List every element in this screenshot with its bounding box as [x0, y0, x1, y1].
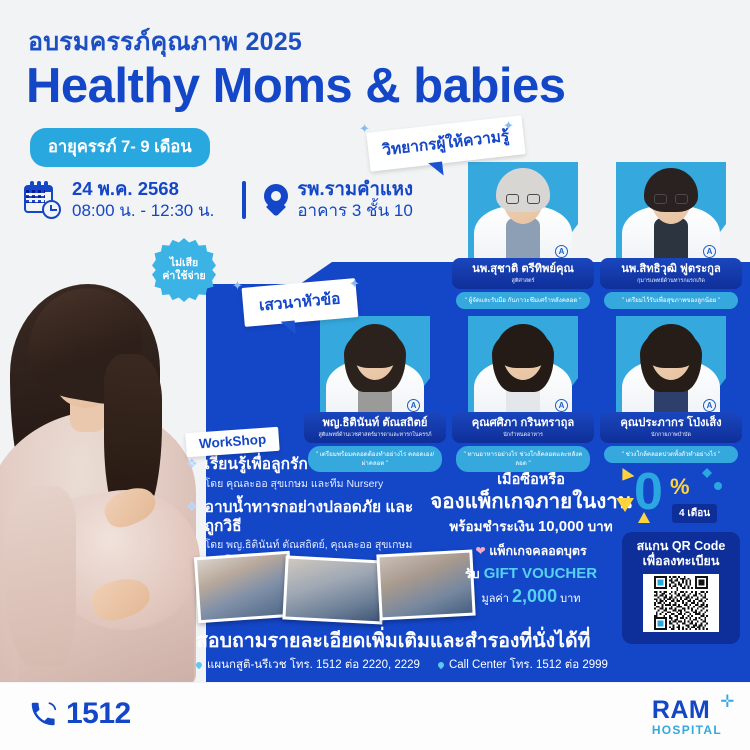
promo-voucher-line: รับ GIFT VOUCHER	[424, 564, 638, 584]
speaker-nameplate: พญ.ธิตินันท์ ตัณสถิตย์ สูติแพทย์ด้านเวชศ…	[304, 412, 446, 443]
diamond-bullet-icon: ❖	[186, 456, 198, 492]
promo-payment-line: พร้อมชำระเงิน 10,000 บาท	[424, 517, 638, 537]
zero-percent-badge: 0 % 4 เดือน	[616, 468, 726, 534]
speaker-name: พญ.ธิตินันท์ ตัณสถิตย์	[308, 417, 442, 430]
vertical-divider	[242, 181, 246, 219]
footer-bar: 1512 RAM ✛ HOSPITAL	[0, 683, 750, 750]
free-badge-line2: ค่าใช้จ่าย	[162, 270, 205, 283]
speaker-photo: A	[304, 312, 446, 416]
speaker-card-4[interactable]: A คุณศศิภา กรินทราถุล นักกำหนดอาหาร " ทา…	[452, 312, 594, 472]
calendar-clock-icon	[22, 180, 62, 220]
promo-package-text: แพ็กเกจคลอดบุตร	[489, 544, 586, 558]
speaker-photo: A	[452, 158, 594, 262]
hospital-logo-icon: A	[555, 399, 568, 412]
promotion-block: เมื่อซื้อหรือ จองแพ็กเกจภายในงาน พร้อมชำ…	[424, 472, 638, 607]
contact-items: แผนกสูติ-นรีเวช โทร. 1512 ต่อ 2220, 2229…	[196, 656, 750, 674]
event-date-block: 24 พ.ค. 2568 08:00 น. - 12:30 น.	[72, 178, 214, 221]
speaker-card-2[interactable]: A นพ.สิทธิวุฒิ ฟูตระกูล กุมารแพทย์ด้านทา…	[600, 158, 742, 309]
glasses-icon	[654, 194, 688, 204]
speaker-quote: " ช่วงใกล้คลอดปวดทั้งตัวทำอย่างไร "	[604, 446, 738, 463]
promo-payment-prefix: พร้อมชำระเงิน	[449, 519, 534, 534]
footer-phone-number: 1512	[66, 697, 131, 731]
speaker-role: นักกายภาพบำบัด	[604, 431, 738, 439]
sparkle-icon: ✦	[359, 121, 370, 137]
event-time: 08:00 น. - 12:30 น.	[72, 201, 214, 222]
event-info-row: 24 พ.ค. 2568 08:00 น. - 12:30 น. รพ.รามค…	[22, 178, 413, 221]
hospital-logo-icon: A	[703, 399, 716, 412]
speaker-nameplate: นพ.สิทธิวุฒิ ฟูตระกูล กุมารแพทย์ด้านทารก…	[600, 258, 742, 289]
heart-icon: ❤	[475, 544, 485, 558]
qr-code-icon[interactable]	[643, 574, 719, 632]
speaker-quote: " เตรียมไว้รับเพื่อสุขภาพของลูกน้อย "	[604, 292, 738, 309]
speaker-role: สูติแพทย์ด้านเวชศาสตร์มารดาและทารกในครรภ…	[308, 431, 442, 439]
promo-voucher-prefix: รับ	[465, 567, 480, 581]
header-subtitle: อบรมครรภ์คุณภาพ 2025	[28, 22, 302, 62]
event-photo-2	[282, 555, 385, 624]
confetti-icon	[702, 468, 712, 478]
promo-package-line: ❤ แพ็กเกจคลอดบุตร	[424, 541, 638, 561]
event-venue-block: รพ.รามคำแหง อาคาร 3 ชั้น 10	[297, 178, 413, 221]
phone-ring-icon	[28, 699, 58, 729]
hospital-logo-icon: A	[703, 245, 716, 258]
speaker-name: คุณประภากร โป่งเส็ง	[604, 417, 738, 430]
promo-line-1: เมื่อซื้อหรือ	[424, 472, 638, 489]
poster-root: อบรมครรภ์คุณภาพ 2025 Healthy Moms & babi…	[0, 0, 750, 750]
promo-payment-amount: 10,000	[538, 518, 584, 535]
speaker-name: นพ.สิทธิวุฒิ ฟูตระกูล	[604, 263, 738, 276]
speaker-card-5[interactable]: A คุณประภากร โป่งเส็ง นักกายภาพบำบัด " ช…	[600, 312, 742, 463]
speaker-nameplate: คุณประภากร โป่งเส็ง นักกายภาพบำบัด	[600, 412, 742, 443]
speaker-photo: A	[600, 158, 742, 262]
speaker-photo: A	[452, 312, 594, 416]
contact-item-text: แผนกสูติ-นรีเวช โทร. 1512 ต่อ 2220, 2229	[207, 656, 420, 674]
medical-cross-icon: ✛	[720, 694, 735, 710]
speaker-quote: " ทานอาหารอย่างไร ช่วงใกล้คลอดและหลังคลอ…	[456, 446, 590, 473]
speaker-quote: " เตรียมพร้อมคลอดต้องทำอย่างไร คลอดเอง/ผ…	[308, 446, 442, 473]
brand-subtitle: HOSPITAL	[652, 723, 722, 737]
qr-code-svg	[645, 576, 717, 630]
ram-hospital-logo: RAM ✛ HOSPITAL	[652, 699, 722, 737]
speaker-nameplate: คุณศศิภา กรินทราถุล นักกำหนดอาหาร	[452, 412, 594, 443]
speaker-name: คุณศศิภา กรินทราถุล	[456, 417, 590, 430]
promo-value-prefix: มูลค่า	[481, 593, 509, 605]
contact-item[interactable]: Call Center โทร. 1512 ต่อ 2999	[438, 656, 608, 674]
installment-months: 4 เดือน	[672, 504, 717, 523]
speaker-quote: " ผู้จัดและรับมือ กับภาวะซึมเศร้าหลังคลอ…	[456, 292, 590, 309]
promo-payment-suffix: บาท	[588, 519, 613, 534]
event-photo-1	[194, 551, 294, 624]
confetti-icon	[616, 498, 634, 512]
speaker-photo: A	[600, 312, 742, 416]
event-venue: รพ.รามคำแหง	[297, 178, 413, 201]
age-range-pill: อายุครรภ์ 7- 9 เดือน	[30, 128, 210, 167]
sparkle-icon: ✦	[503, 118, 514, 134]
sparkle-icon: ✦	[232, 278, 243, 294]
footer-phone[interactable]: 1512	[28, 697, 131, 731]
confetti-icon	[714, 482, 722, 490]
hospital-logo-icon: A	[555, 245, 568, 258]
speaker-nameplate: นพ.สุชาติ ตรีทิพย์คุณ สูติศาสตร์	[452, 258, 594, 289]
bullet-icon	[195, 661, 203, 669]
brand-name: RAM ✛	[652, 699, 722, 723]
speaker-role: นักกำหนดอาหาร	[456, 431, 590, 439]
event-venue-detail: อาคาร 3 ชั้น 10	[297, 201, 413, 222]
location-pin-icon	[264, 184, 288, 216]
promo-value-suffix: บาท	[560, 593, 580, 605]
workshop-title: อาบน้ำทารกอย่างปลอดภัย และถูกวิธี	[205, 499, 426, 537]
speaker-name: นพ.สุชาติ ตรีทิพย์คุณ	[456, 263, 590, 276]
contact-item-text: Call Center โทร. 1512 ต่อ 2999	[449, 656, 608, 674]
hospital-logo-icon: A	[407, 399, 420, 412]
promo-value-line: มูลค่า 2,000 บาท	[424, 586, 638, 607]
qr-title-line1: สแกน QR Code	[622, 539, 740, 554]
percent-symbol: %	[670, 474, 690, 500]
speaker-role: กุมารแพทย์ด้านทารกแรกเกิด	[604, 277, 738, 285]
free-badge-line1: ไม่เสีย	[170, 257, 198, 270]
zero-percent-number: 0	[634, 466, 661, 518]
qr-title-line2: เพื่อลงทะเบียน	[622, 554, 740, 569]
glasses-icon	[506, 194, 540, 204]
speaker-card-1[interactable]: A นพ.สุชาติ ตรีทิพย์คุณ สูติศาสตร์ " ผู้…	[452, 158, 594, 309]
promo-voucher-main: GIFT VOUCHER	[484, 565, 597, 582]
promo-line-2: จองแพ็กเกจภายในงาน	[424, 490, 638, 515]
contact-item[interactable]: แผนกสูติ-นรีเวช โทร. 1512 ต่อ 2220, 2229	[196, 656, 420, 674]
event-date: 24 พ.ค. 2568	[72, 178, 214, 201]
speaker-card-3[interactable]: A พญ.ธิตินันท์ ตัณสถิตย์ สูติแพทย์ด้านเว…	[304, 312, 446, 472]
brand-text: RAM	[652, 696, 710, 724]
bullet-icon	[437, 661, 445, 669]
workshop-by: โดย คุณละออ สุขเกษม และทีม Nursery	[205, 477, 384, 492]
speaker-role: สูติศาสตร์	[456, 277, 590, 285]
pregnant-woman-photo	[0, 258, 206, 682]
sparkle-icon: ✦	[349, 276, 360, 292]
qr-registration-panel[interactable]: สแกน QR Code เพื่อลงทะเบียน	[622, 532, 740, 644]
promo-value-amount: 2,000	[512, 586, 557, 606]
page-title: Healthy Moms & babies	[26, 62, 566, 111]
